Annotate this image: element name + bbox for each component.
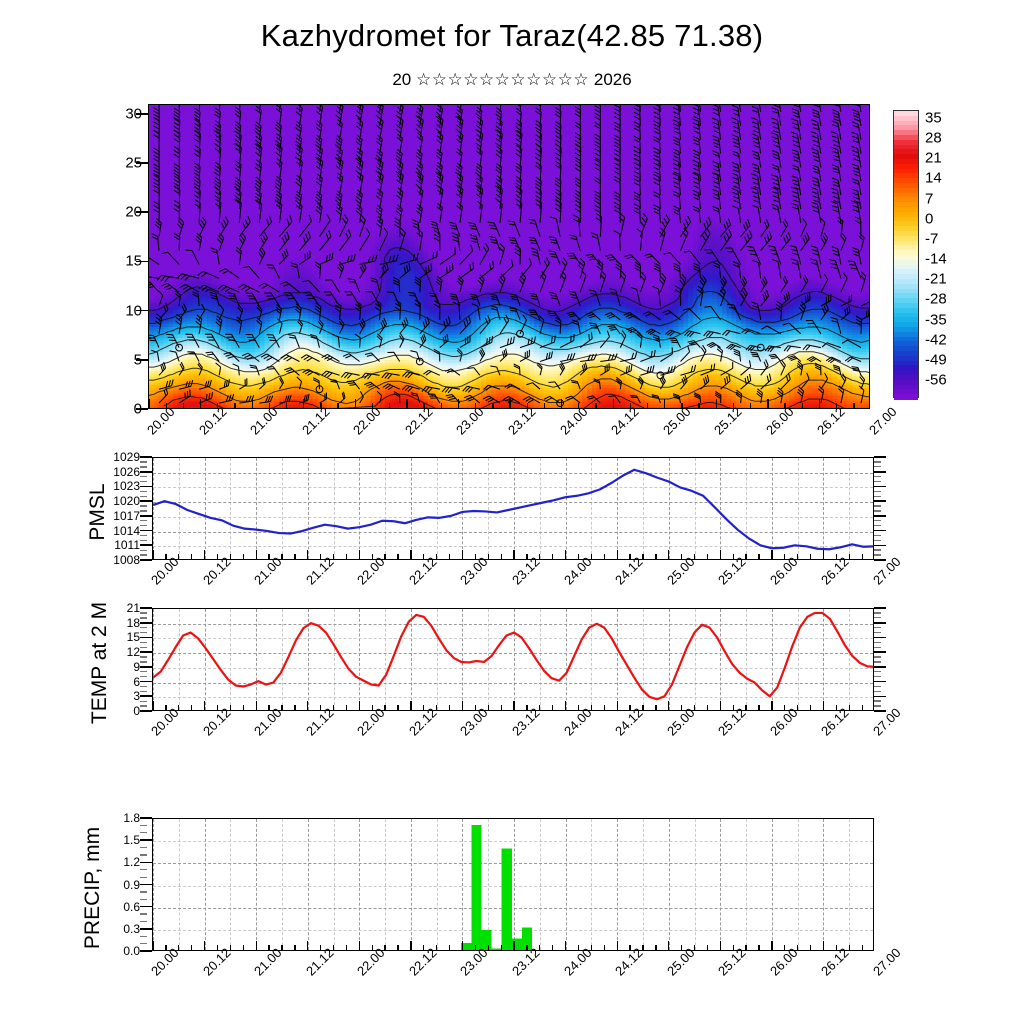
y-tick-label: 0.3: [100, 922, 140, 936]
y-tick-mark: [140, 500, 152, 502]
y-tick-mark: [136, 359, 148, 361]
temp-right-tickmarks: [874, 608, 886, 711]
y-tick-mark: [874, 525, 881, 526]
page-title: Kazhydromet for Taraz(42.85 71.38): [0, 18, 1024, 54]
y-tick-mark: [140, 486, 152, 488]
x-tick-label: 27.00: [866, 404, 900, 438]
y-tick-mark: [140, 884, 152, 886]
colorbar-tick-label: 28: [925, 130, 942, 147]
y-tick-mark: [874, 466, 881, 467]
y-tick-mark-minor: [140, 481, 147, 482]
y-tick-mark-minor: [140, 899, 147, 900]
pmsl-panel: [152, 457, 874, 560]
colorbar-labels: 3528211470-7-14-21-28-35-42-49-56: [925, 110, 985, 398]
precip-y-tickmarks: [140, 818, 152, 951]
colorbar-tick-label: -21: [925, 271, 947, 288]
y-tick-mark-minor: [140, 943, 147, 944]
y-tick-mark-minor: [140, 847, 147, 848]
temp-series-line: [153, 613, 874, 699]
y-tick-mark: [874, 656, 881, 657]
y-tick-mark-minor: [140, 661, 147, 662]
temp-y-tickmarks: [140, 608, 152, 711]
cross-section-field: [149, 105, 869, 408]
subtitle-month-glyphs: ☆☆☆☆☆☆☆☆☆☆☆: [416, 70, 589, 89]
y-tick-mark-minor: [140, 505, 147, 506]
y-tick-mark: [874, 535, 881, 536]
y-tick-mark: [136, 162, 148, 164]
y-tick-mark: [136, 408, 148, 410]
y-tick-mark-minor: [140, 491, 147, 492]
y-tick-mark: [874, 686, 881, 687]
x-tick-label: 23.00: [453, 404, 487, 438]
y-tick-mark-minor: [140, 525, 147, 526]
y-tick-mark: [874, 612, 881, 613]
temp-x-axis: 20.0020.1221.0021.1222.0022.1223.0023.12…: [152, 714, 874, 760]
y-tick-mark: [874, 554, 881, 555]
y-tick-mark-minor: [140, 686, 147, 687]
y-tick-mark: [874, 617, 881, 618]
y-tick-mark: [140, 950, 152, 952]
y-tick-mark-minor: [140, 854, 147, 855]
upper-air-cross-section-panel: [148, 104, 870, 409]
y-tick-mark: [140, 515, 152, 517]
x-tick-label: 22.00: [350, 404, 384, 438]
y-tick-mark-minor: [140, 632, 147, 633]
colorbar-band: [894, 394, 918, 399]
y-tick-mark: [874, 486, 886, 488]
y-tick-mark-minor: [140, 869, 147, 870]
y-tick-label: 0.6: [100, 900, 140, 914]
y-tick-mark-minor: [140, 540, 147, 541]
y-tick-mark: [874, 530, 886, 532]
y-tick-mark: [136, 113, 148, 115]
y-tick-mark-minor: [140, 877, 147, 878]
colorbar-tick-label: 0: [925, 210, 933, 227]
y-tick-mark: [140, 839, 152, 841]
precip-x-axis: 20.0020.1221.0021.1222.0022.1223.0023.12…: [152, 954, 874, 1000]
y-tick-mark: [874, 461, 881, 462]
y-tick-mark-minor: [140, 676, 147, 677]
y-tick-mark-minor: [140, 466, 147, 467]
y-tick-mark: [874, 705, 881, 706]
x-tick-label: 24.12: [608, 404, 642, 438]
y-tick-mark: [874, 500, 886, 502]
y-tick-mark: [140, 666, 152, 668]
precip-bar: [502, 849, 512, 951]
y-tick-mark: [874, 700, 881, 701]
y-tick-mark-minor: [140, 647, 147, 648]
precip-bar: [471, 825, 481, 951]
y-tick-mark-minor: [140, 510, 147, 511]
y-tick-mark: [874, 647, 881, 648]
y-tick-mark: [874, 607, 886, 609]
y-tick-mark-minor: [140, 913, 147, 914]
x-tick-label: 24.00: [557, 404, 591, 438]
y-tick-mark: [140, 622, 152, 624]
y-tick-mark: [140, 530, 152, 532]
y-tick-mark-minor: [140, 671, 147, 672]
y-tick-mark: [136, 310, 148, 312]
y-tick-mark: [140, 607, 152, 609]
y-tick-mark-minor: [140, 656, 147, 657]
y-tick-mark-minor: [140, 550, 147, 551]
y-tick-mark: [140, 544, 152, 546]
cross-section-x-axis: 20.0020.1221.0021.1222.0022.1223.0023.12…: [148, 413, 870, 459]
y-tick-mark-minor: [140, 520, 147, 521]
y-tick-mark: [140, 456, 152, 458]
y-tick-mark-minor: [140, 832, 147, 833]
y-tick-mark-minor: [140, 936, 147, 937]
precip-bar: [512, 939, 522, 951]
y-tick-mark: [140, 651, 152, 653]
colorbar-tick-label: 21: [925, 150, 942, 167]
y-tick-mark-minor: [140, 554, 147, 555]
y-tick-mark: [874, 651, 886, 653]
y-tick-mark: [874, 661, 881, 662]
pmsl-right-tickmarks: [874, 457, 886, 560]
y-tick-mark: [874, 676, 881, 677]
x-tick-label: 25.00: [660, 404, 694, 438]
y-tick-mark-minor: [140, 627, 147, 628]
cross-section-plot: [149, 105, 869, 408]
temp-axis-label: TEMP at 2 M: [88, 573, 112, 753]
temp-panel: [152, 608, 874, 711]
pmsl-x-axis: 20.0020.1221.0021.1222.0022.1223.0023.12…: [152, 563, 874, 609]
x-tick-label: 26.00: [763, 404, 797, 438]
y-tick-mark: [140, 471, 152, 473]
y-tick-mark-minor: [140, 461, 147, 462]
y-tick-mark-minor: [140, 642, 147, 643]
precip-bar: [461, 943, 471, 951]
y-tick-mark: [874, 520, 881, 521]
precip-y-axis: 0.00.30.60.91.21.51.8: [100, 818, 140, 951]
y-tick-mark: [140, 817, 152, 819]
colorbar-tick-label: -14: [925, 251, 947, 268]
x-tick-label: 21.00: [247, 404, 281, 438]
colorbar-tick-label: -28: [925, 291, 947, 308]
precip-panel: [152, 818, 874, 951]
y-tick-mark-minor: [140, 476, 147, 477]
y-tick-mark-minor: [140, 612, 147, 613]
y-tick-mark-minor: [140, 825, 147, 826]
colorbar-tick-label: -7: [925, 230, 938, 247]
y-tick-label: 1.5: [100, 833, 140, 847]
y-tick-mark: [874, 481, 881, 482]
colorbar-tick-label: 14: [925, 170, 942, 187]
y-tick-mark: [874, 627, 881, 628]
y-tick-mark: [874, 456, 886, 458]
temp-line-chart: [153, 609, 874, 711]
y-tick-mark: [136, 211, 148, 213]
colorbar-tick-label: 7: [925, 190, 933, 207]
x-tick-label: 22.12: [402, 404, 436, 438]
pmsl-y-tickmarks: [140, 457, 152, 560]
y-tick-mark: [874, 549, 881, 550]
colorbar: [893, 110, 919, 398]
y-tick-mark: [140, 906, 152, 908]
y-tick-mark-minor: [140, 496, 147, 497]
y-tick-mark: [140, 862, 152, 864]
y-tick-mark-minor: [140, 705, 147, 706]
y-tick-mark: [874, 515, 886, 517]
colorbar-tick-label: -35: [925, 311, 947, 328]
y-tick-label: 1.8: [100, 811, 140, 825]
colorbar-tick-label: -42: [925, 331, 947, 348]
colorbar-tick-label: 35: [925, 110, 942, 127]
y-tick-mark: [874, 666, 886, 668]
y-tick-mark: [874, 559, 886, 561]
x-tick-label: 20.00: [144, 404, 178, 438]
y-tick-mark: [874, 545, 886, 547]
colorbar-tick-label: -56: [925, 372, 947, 389]
y-tick-mark: [874, 622, 886, 624]
y-tick-mark: [874, 505, 881, 506]
y-tick-mark: [140, 681, 152, 683]
y-tick-mark: [874, 471, 886, 473]
y-tick-mark-minor: [140, 535, 147, 536]
pmsl-series-line: [153, 470, 874, 549]
x-tick-label: 20.12: [196, 404, 230, 438]
y-tick-mark: [140, 928, 152, 930]
y-tick-label: 0.0: [100, 944, 140, 958]
y-tick-mark-minor: [140, 617, 147, 618]
y-tick-mark-minor: [140, 921, 147, 922]
subtitle-year: 2026: [594, 70, 632, 89]
y-tick-label: 0.9: [100, 878, 140, 892]
precip-bar-chart: [153, 819, 874, 951]
y-tick-label: 1.2: [100, 855, 140, 869]
y-tick-mark: [140, 695, 152, 697]
y-tick-mark: [874, 540, 881, 541]
chart-subtitle: 20 ☆☆☆☆☆☆☆☆☆☆☆ 2026: [0, 70, 1024, 90]
y-tick-mark: [874, 496, 881, 497]
y-tick-mark: [874, 691, 881, 692]
pmsl-line-chart: [153, 458, 874, 560]
y-tick-mark: [874, 637, 886, 639]
y-tick-mark: [874, 696, 886, 698]
y-tick-mark: [874, 632, 881, 633]
y-tick-mark-minor: [140, 891, 147, 892]
y-tick-mark: [874, 681, 886, 683]
x-tick-label: 26.12: [814, 404, 848, 438]
y-tick-mark: [140, 559, 152, 561]
y-tick-mark: [874, 671, 881, 672]
y-tick-mark: [140, 710, 152, 712]
y-tick-mark: [874, 476, 881, 477]
y-tick-mark: [874, 710, 886, 712]
precip-axis-label: PRECIP, mm: [81, 803, 105, 973]
y-tick-mark: [140, 637, 152, 639]
x-tick-label: 23.12: [505, 404, 539, 438]
y-tick-mark: [874, 642, 881, 643]
y-tick-mark: [874, 491, 881, 492]
y-tick-mark-minor: [140, 701, 147, 702]
colorbar-tick-label: -49: [925, 351, 947, 368]
x-tick-label: 21.12: [299, 404, 333, 438]
y-tick-mark-minor: [140, 691, 147, 692]
y-tick-mark: [874, 510, 881, 511]
x-tick-label: 25.12: [711, 404, 745, 438]
y-tick-mark: [136, 261, 148, 263]
precip-bar: [492, 948, 502, 951]
cross-section-y-tickmarks: [136, 104, 148, 409]
x-tick-label: 27.00: [870, 945, 904, 979]
pmsl-axis-label: PMSL: [86, 452, 110, 572]
subtitle-day: 20: [392, 70, 411, 89]
